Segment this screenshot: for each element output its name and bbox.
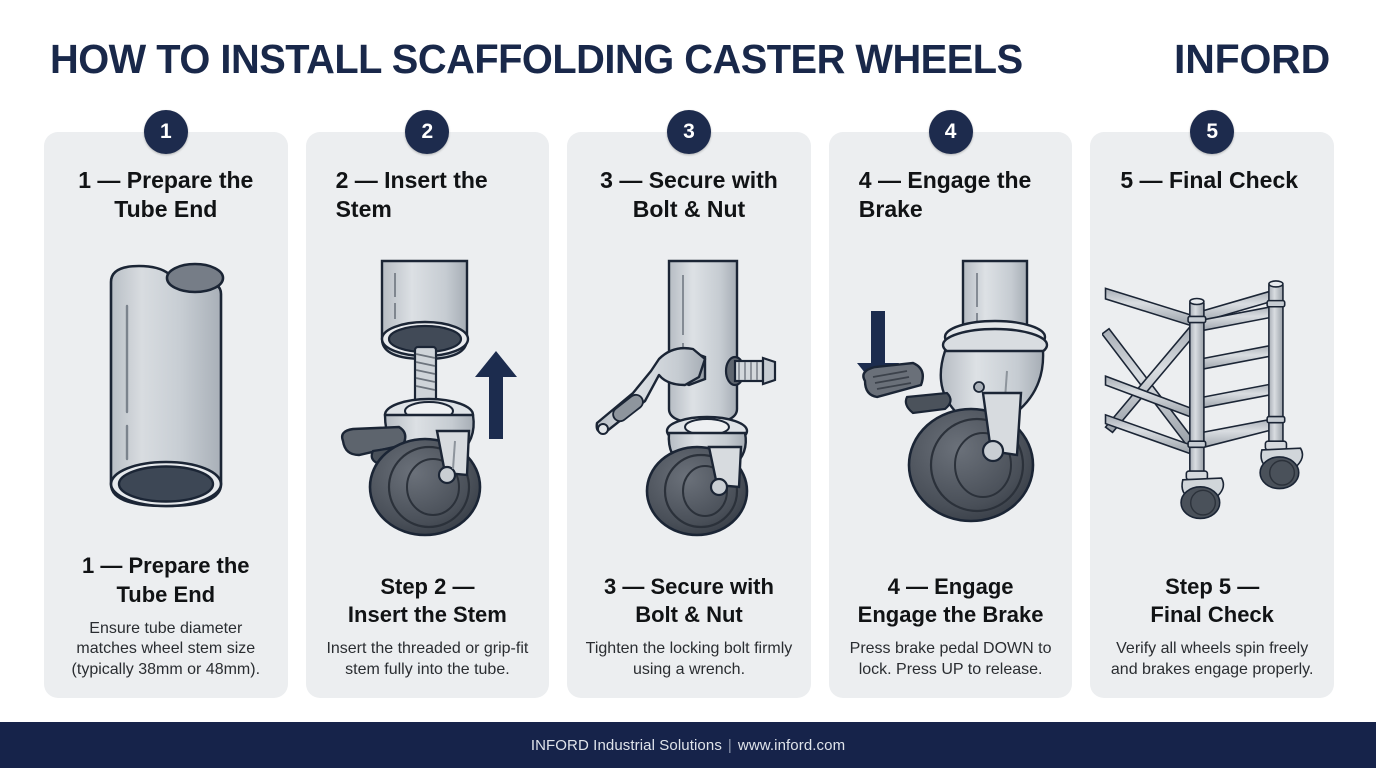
illustration-tube-end bbox=[56, 226, 276, 550]
tube-end-icon bbox=[91, 254, 241, 524]
step-badge-4: 4 bbox=[929, 110, 973, 154]
brake-pedal-press-icon bbox=[851, 259, 1051, 539]
step-head-title-2: 2 — Insert theStem bbox=[318, 166, 538, 226]
step-head-title-3: 3 — Secure withBolt & Nut bbox=[579, 166, 799, 226]
step-foot-title-4: 4 — EngageEngage the Brake bbox=[841, 573, 1061, 630]
step-badge-3: 3 bbox=[667, 110, 711, 154]
step-head-title-1: 1 — Prepare theTube End bbox=[56, 166, 276, 226]
step-foot-title-5: Step 5 —Final Check bbox=[1102, 573, 1322, 630]
infographic-page: HOW TO INSTALL SCAFFOLDING CASTER WHEELS… bbox=[0, 0, 1376, 768]
step-head-title-5: 5 — Final Check bbox=[1102, 166, 1322, 226]
wrench-bolt-nut-icon bbox=[589, 259, 789, 539]
footer-bar: INFORD Industrial Solutions|www.inford.c… bbox=[0, 722, 1376, 768]
page-title: HOW TO INSTALL SCAFFOLDING CASTER WHEELS bbox=[50, 36, 1023, 83]
step-foot-title-3: 3 — Secure withBolt & Nut bbox=[579, 573, 799, 630]
step-badge-5: 5 bbox=[1190, 110, 1234, 154]
step-badge-2: 2 bbox=[405, 110, 449, 154]
step-foot-title-2: Step 2 —Insert the Stem bbox=[318, 573, 538, 630]
brand-logo: INFORD bbox=[1174, 36, 1330, 83]
footer-text: INFORD Industrial Solutions|www.inford.c… bbox=[531, 737, 845, 754]
step-card-1[interactable]: 1 1 — Prepare theTube End bbox=[44, 132, 288, 698]
step-body-3: Tighten the locking bolt firmly using a … bbox=[579, 639, 799, 682]
step-body-2: Insert the threaded or grip-fit stem ful… bbox=[318, 639, 538, 682]
step-card-5[interactable]: 5 5 — Final Check bbox=[1090, 132, 1334, 698]
footer-website[interactable]: www.inford.com bbox=[738, 737, 845, 754]
illustration-caster-stem-insert bbox=[318, 226, 538, 571]
step-body-5: Verify all wheels spin freely and brakes… bbox=[1102, 639, 1322, 682]
scaffold-tower-icon bbox=[1102, 259, 1322, 539]
illustration-wrench-bolt-nut bbox=[579, 226, 799, 571]
steps-row: 1 1 — Prepare theTube End bbox=[44, 132, 1334, 698]
illustration-brake-pedal-press bbox=[841, 226, 1061, 571]
caster-stem-insert-icon bbox=[337, 259, 517, 539]
up-arrow-icon bbox=[475, 351, 517, 439]
step-card-4[interactable]: 4 4 — Engage theBrake bbox=[829, 132, 1073, 698]
step-badge-1: 1 bbox=[144, 110, 188, 154]
header: HOW TO INSTALL SCAFFOLDING CASTER WHEELS… bbox=[0, 0, 1376, 104]
step-card-2[interactable]: 2 2 — Insert theStem bbox=[306, 132, 550, 698]
step-foot-title-1: 1 — Prepare theTube End bbox=[56, 552, 276, 609]
footer-separator: | bbox=[728, 737, 732, 754]
step-head-title-4: 4 — Engage theBrake bbox=[841, 166, 1061, 226]
footer-company: INFORD Industrial Solutions bbox=[531, 737, 722, 754]
step-card-3[interactable]: 3 3 — Secure withBolt & Nut bbox=[567, 132, 811, 698]
step-body-1: Ensure tube diameter matches wheel stem … bbox=[56, 619, 276, 682]
step-body-4: Press brake pedal DOWN to lock. Press UP… bbox=[841, 639, 1061, 682]
illustration-scaffold-tower bbox=[1102, 226, 1322, 571]
